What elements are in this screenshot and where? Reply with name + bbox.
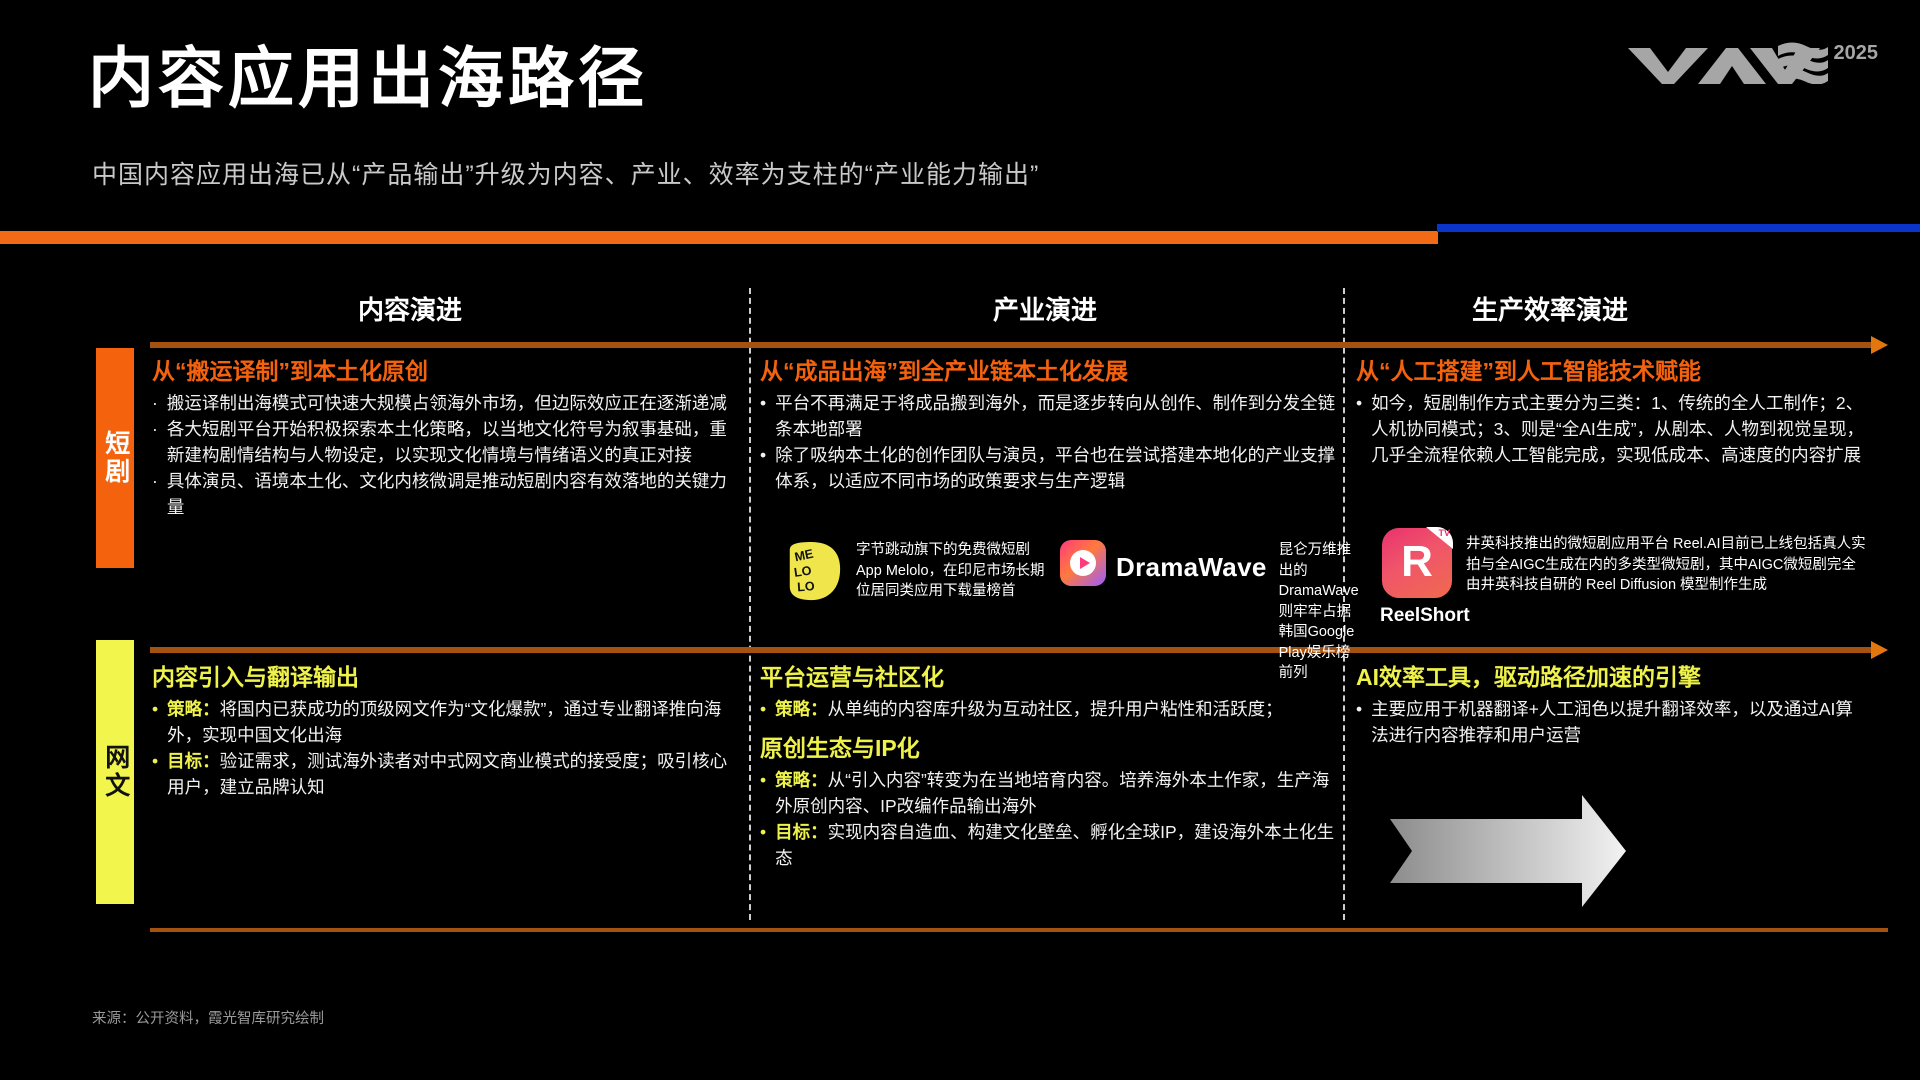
melolo-logo-icon: ME LO LO — [782, 540, 844, 602]
play-circle-icon — [1070, 550, 1096, 576]
page-title: 内容应用出海路径 — [88, 42, 648, 115]
cell-body: •主要应用于机器翻译+人工润色以提升翻译效率，以及通过AI算法进行内容推荐和用户… — [1356, 697, 1868, 749]
list-item-text: 平台不再满足于将成品搬到海外，而是逐步转向从创作、制作到分发全链条本地部署 — [775, 391, 1338, 443]
row-tab-wangwen: 网文 — [96, 640, 134, 904]
wave-logo-year: 2025 — [1834, 42, 1879, 65]
divider-bar-orange — [0, 231, 1438, 244]
arrow-shaft — [150, 647, 1872, 653]
cell-title: 平台运营与社区化 — [760, 658, 1338, 692]
row-axis-arrow-2 — [150, 641, 1888, 659]
item-key: 目标： — [775, 822, 828, 842]
list-item: •策略：将国内已获成功的顶级网文作为“文化爆款”，通过专业翻译推向海外，实现中国… — [152, 697, 740, 749]
bullet-icon: • — [760, 443, 766, 495]
bullet-icon: • — [1356, 391, 1362, 469]
divider-bar-blue — [1437, 224, 1920, 232]
wave-wordmark-icon — [1628, 40, 1828, 84]
item-key: 策略： — [775, 770, 828, 790]
cell-body-2: •策略：从“引入内容”转变为在当地培育内容。培养海外本土作家，生产海外原创内容、… — [760, 768, 1338, 872]
list-item-text: 如今，短剧制作方式主要分为三类：1、传统的全人工制作；2、人机协同模式；3、则是… — [1371, 391, 1868, 469]
cell-body: ·搬运译制出海模式可快速大规模占领海外市场，但边际效应正在逐渐递减 ·各大短剧平… — [152, 391, 740, 520]
reelshort-logo-letter: R — [1401, 540, 1433, 584]
list-item: ·搬运译制出海模式可快速大规模占领海外市场，但边际效应正在逐渐递减 — [152, 391, 740, 417]
svg-text:LO: LO — [797, 579, 816, 594]
list-item: •目标：验证需求，测试海外读者对中式网文商业模式的接受度；吸引核心用户，建立品牌… — [152, 749, 740, 801]
column-header-efficiency-evolution: 生产效率演进 — [1400, 290, 1700, 327]
item-text: 验证需求，测试海外读者对中式网文商业模式的接受度；吸引核心用户，建立品牌认知 — [167, 751, 727, 797]
reelshort-wordmark: ReelShort — [1380, 605, 1454, 627]
list-item: •如今，短剧制作方式主要分为三类：1、传统的全人工制作；2、人机协同模式；3、则… — [1356, 391, 1868, 469]
list-item: •除了吸纳本土化的创作团队与演员，平台也在尝试搭建本地化的产业支撑体系，以适应不… — [760, 443, 1338, 495]
arrow-head-icon — [1871, 641, 1888, 659]
bullet-icon: · — [152, 417, 158, 469]
item-text: 从“引入内容”转变为在当地培育内容。培养海外本土作家，生产海外原创内容、IP改编… — [775, 770, 1329, 816]
brand-reelshort: R TV ReelShort 井英科技推出的微短剧应用平台 Reel.AI目前已… — [1380, 528, 1880, 627]
list-item-text: 策略：从“引入内容”转变为在当地培育内容。培养海外本土作家，生产海外原创内容、I… — [775, 768, 1338, 820]
column-separator-1 — [749, 288, 751, 920]
dramawave-wordmark: DramaWave — [1116, 552, 1267, 583]
item-key: 策略： — [775, 699, 828, 719]
list-item-text: 各大短剧平台开始积极探索本土化策略，以当地文化符号为叙事基础，重新建构剧情结构与… — [167, 417, 740, 469]
list-item-text: 策略：从单纯的内容库升级为互动社区，提升用户粘性和活跃度； — [775, 697, 1338, 723]
cell-title: 从“人工搭建”到人工智能技术赋能 — [1356, 352, 1868, 386]
item-text: 将国内已获成功的顶级网文作为“文化爆款”，通过专业翻译推向海外，实现中国文化出海 — [167, 699, 721, 745]
reelshort-logo-icon: R TV — [1382, 528, 1452, 598]
cell-title: 从“成品出海”到全产业链本土化发展 — [760, 352, 1338, 386]
item-text: 实现内容自造血、构建文化壁垒、孵化全球IP，建设海外本土化生态 — [775, 822, 1334, 868]
row-tab-duanju: 短剧 — [96, 348, 134, 568]
column-header-industry-evolution: 产业演进 — [915, 290, 1175, 327]
list-item: •目标：实现内容自造血、构建文化壁垒、孵化全球IP，建设海外本土化生态 — [760, 820, 1338, 872]
list-item: •平台不再满足于将成品搬到海外，而是逐步转向从创作、制作到分发全链条本地部署 — [760, 391, 1338, 443]
cell-r2c2: 平台运营与社区化 •策略：从单纯的内容库升级为互动社区，提升用户粘性和活跃度； … — [760, 658, 1338, 871]
brand-note: 井英科技推出的微短剧应用平台 Reel.AI目前已上线包括真人实拍与全AIGC生… — [1466, 528, 1866, 596]
list-item-text: 目标：实现内容自造血、构建文化壁垒、孵化全球IP，建设海外本土化生态 — [775, 820, 1338, 872]
list-item-text: 具体演员、语境本土化、文化内核微调是推动短剧内容有效落地的关键力量 — [167, 469, 740, 521]
list-item: •策略：从“引入内容”转变为在当地培育内容。培养海外本土作家，生产海外原创内容、… — [760, 768, 1338, 820]
cell-r2c3: AI效率工具，驱动路径加速的引擎 •主要应用于机器翻译+人工润色以提升翻译效率，… — [1356, 658, 1868, 749]
list-item: ·各大短剧平台开始积极探索本土化策略，以当地文化符号为叙事基础，重新建构剧情结构… — [152, 417, 740, 469]
column-header-content-evolution: 内容演进 — [280, 290, 540, 327]
cell-title-2: 原创生态与IP化 — [760, 729, 1338, 763]
reelshort-logo-box: R TV ReelShort — [1380, 528, 1454, 627]
cell-title: AI效率工具，驱动路径加速的引擎 — [1356, 658, 1868, 692]
list-item-text: 除了吸纳本土化的创作团队与演员，平台也在尝试搭建本地化的产业支撑体系，以适应不同… — [775, 443, 1338, 495]
arrow-head-icon — [1871, 336, 1888, 354]
list-item: •策略：从单纯的内容库升级为互动社区，提升用户粘性和活跃度； — [760, 697, 1338, 723]
bullet-icon: • — [760, 768, 766, 820]
cell-r1c2: 从“成品出海”到全产业链本土化发展 •平台不再满足于将成品搬到海外，而是逐步转向… — [760, 352, 1338, 495]
cell-r1c1: 从“搬运译制”到本土化原创 ·搬运译制出海模式可快速大规模占领海外市场，但边际效… — [152, 352, 740, 520]
item-key: 策略： — [167, 699, 220, 719]
cell-body: •策略：将国内已获成功的顶级网文作为“文化爆款”，通过专业翻译推向海外，实现中国… — [152, 697, 740, 801]
source-note: 来源：公开资料，霞光智库研究绘制 — [92, 1007, 324, 1028]
item-text: 从单纯的内容库升级为互动社区，提升用户粘性和活跃度； — [828, 699, 1283, 719]
list-item-text: 主要应用于机器翻译+人工润色以提升翻译效率，以及通过AI算法进行内容推荐和用户运… — [1371, 697, 1868, 749]
list-item-text: 目标：验证需求，测试海外读者对中式网文商业模式的接受度；吸引核心用户，建立品牌认… — [167, 749, 740, 801]
cell-title: 内容引入与翻译输出 — [152, 658, 740, 692]
cell-body: •平台不再满足于将成品搬到海外，而是逐步转向从创作、制作到分发全链条本地部署 •… — [760, 391, 1338, 495]
bullet-icon: · — [152, 391, 158, 417]
play-triangle-icon — [1080, 557, 1090, 569]
bullet-icon: • — [760, 697, 766, 723]
brand-melolo: ME LO LO 字节跳动旗下的免费微短剧App Melolo，在印尼市场长期位… — [782, 540, 1052, 602]
wave-logo: 2025 — [1628, 40, 1879, 84]
bullet-icon: • — [152, 697, 158, 749]
list-item-text: 搬运译制出海模式可快速大规模占领海外市场，但边际效应正在逐渐递减 — [167, 391, 740, 417]
bullet-icon: • — [1356, 697, 1362, 749]
cell-r2c1: 内容引入与翻译输出 •策略：将国内已获成功的顶级网文作为“文化爆款”，通过专业翻… — [152, 658, 740, 801]
svg-text:LO: LO — [793, 563, 812, 579]
list-item-text: 策略：将国内已获成功的顶级网文作为“文化爆款”，通过专业翻译推向海外，实现中国文… — [167, 697, 740, 749]
dramawave-logo-icon — [1060, 540, 1106, 586]
list-item: ·具体演员、语境本土化、文化内核微调是推动短剧内容有效落地的关键力量 — [152, 469, 740, 521]
acceleration-arrow-icon — [1390, 795, 1730, 907]
bullet-icon: · — [152, 469, 158, 521]
list-item: •主要应用于机器翻译+人工润色以提升翻译效率，以及通过AI算法进行内容推荐和用户… — [1356, 697, 1868, 749]
cell-r1c3: 从“人工搭建”到人工智能技术赋能 •如今，短剧制作方式主要分为三类：1、传统的全… — [1356, 352, 1868, 469]
item-key: 目标： — [167, 751, 220, 771]
bottom-baseline — [150, 928, 1888, 932]
bullet-icon: • — [152, 749, 158, 801]
cell-body: •如今，短剧制作方式主要分为三类：1、传统的全人工制作；2、人机协同模式；3、则… — [1356, 391, 1868, 469]
brand-note: 字节跳动旗下的免费微短剧App Melolo，在印尼市场长期位居同类应用下载量榜… — [856, 540, 1052, 602]
bullet-icon: • — [760, 820, 766, 872]
page-subtitle: 中国内容应用出海已从“产品输出”升级为内容、产业、效率为支柱的“产业能力输出” — [92, 155, 1039, 191]
bullet-icon: • — [760, 391, 766, 443]
cell-title: 从“搬运译制”到本土化原创 — [152, 352, 740, 386]
cell-body: •策略：从单纯的内容库升级为互动社区，提升用户粘性和活跃度； — [760, 697, 1338, 723]
arrow-shaft — [150, 342, 1872, 348]
slide-root: 内容应用出海路径 中国内容应用出海已从“产品输出”升级为内容、产业、效率为支柱的… — [0, 0, 1920, 1080]
